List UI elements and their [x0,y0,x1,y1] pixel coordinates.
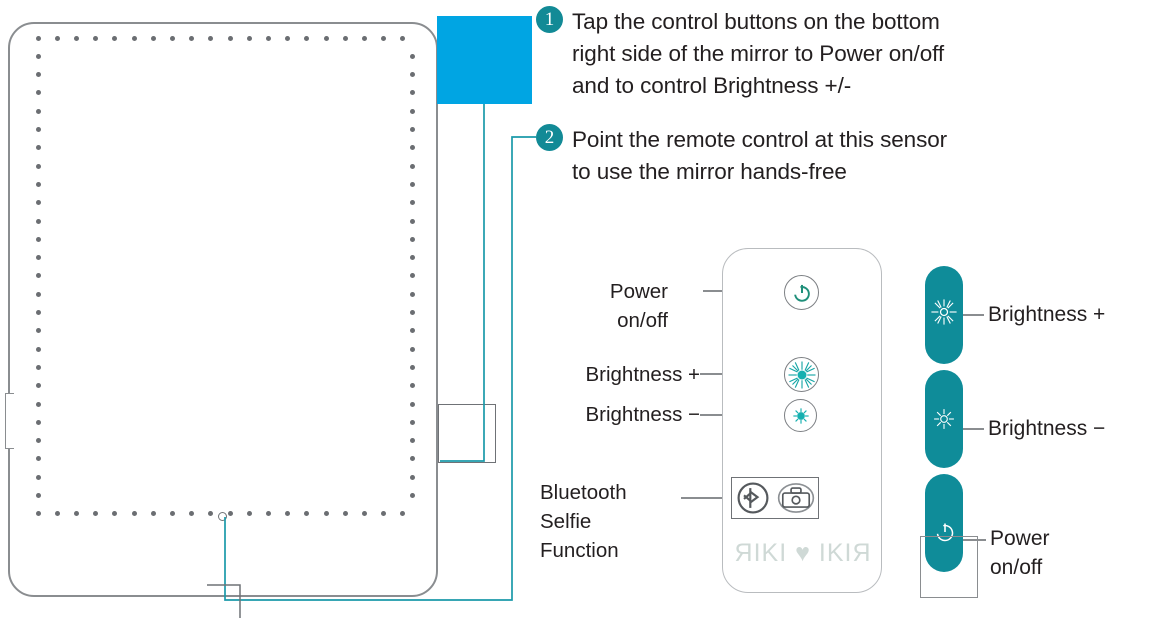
diagram-canvas: 1 Tap the control buttons on the bottom … [0,0,1154,635]
power-icon [791,282,813,304]
step-2-badge: 2 [536,124,563,151]
step-1-text: Tap the control buttons on the bottom ri… [572,6,944,102]
power-area-frame [920,536,978,598]
bluetooth-icon[interactable] [735,480,771,516]
sun-bright-icon [930,298,958,326]
step-2-text: Point the remote control at this sensor … [572,124,947,188]
remote-power-button[interactable] [784,275,819,310]
sun-dim-icon [933,408,955,430]
camera-icon[interactable] [777,482,815,514]
remote-brightness-down-button[interactable] [784,399,817,432]
riki-brand-logo: ЯIKI ♥ IKIЯ [738,538,868,568]
bluetooth-selfie-panel [731,477,819,519]
strip-label-brightness-up: Brightness + [988,300,1105,329]
leader-step2 [225,137,536,600]
sun-bright-icon [787,360,817,390]
leader-step1 [440,104,484,461]
step-2: 2 Point the remote control at this senso… [536,124,947,188]
strip-brightness-up[interactable] [925,266,963,364]
remote-label-brightness-down: Brightness − [520,400,700,429]
strip-label-brightness-down: Brightness − [988,414,1105,443]
step-1-badge: 1 [536,6,563,33]
step-1: 1 Tap the control buttons on the bottom … [536,6,944,102]
remote-brightness-up-button[interactable] [784,357,819,392]
leader-notch [207,585,240,618]
remote-label-power: Power on/off [540,277,668,335]
strip-label-power: Power on/off [990,524,1050,582]
remote-label-bluetooth-selfie: Bluetooth Selfie Function [540,478,670,565]
sun-dim-icon [792,407,810,425]
remote-label-brightness-up: Brightness + [520,360,700,389]
strip-brightness-down[interactable] [925,370,963,468]
